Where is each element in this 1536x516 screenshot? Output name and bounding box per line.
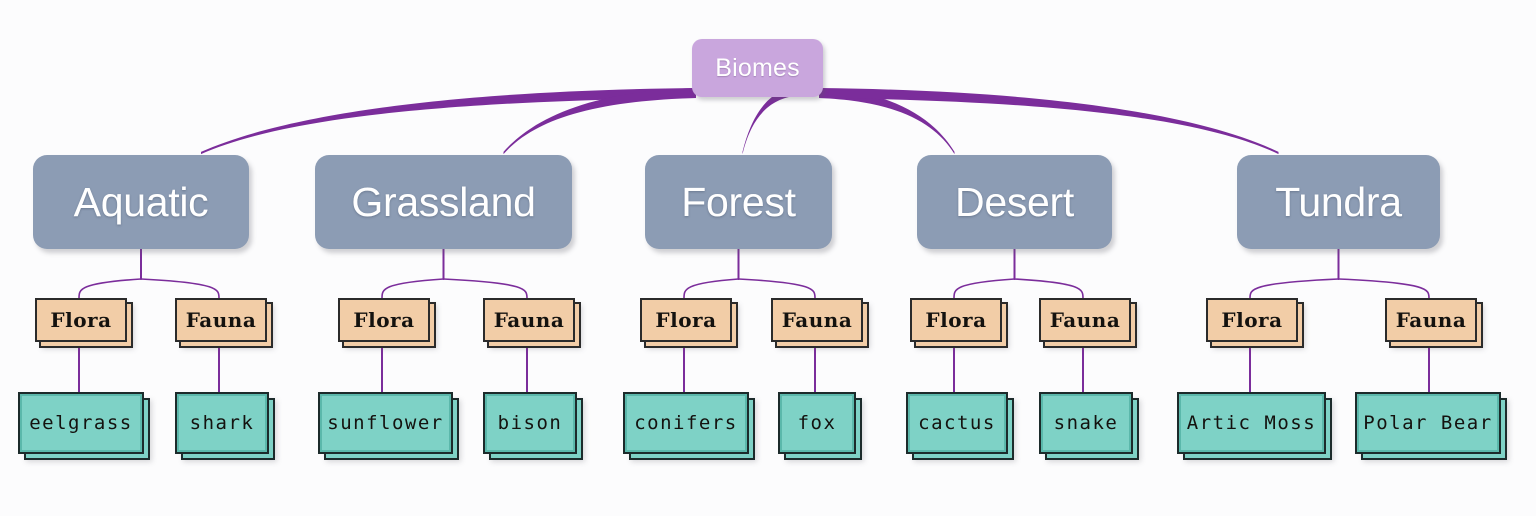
leaf-node-label: bison — [498, 412, 563, 434]
category-node-fauna-grassland[interactable]: Fauna — [483, 298, 575, 342]
leaf-node-bison[interactable]: bison — [483, 392, 577, 454]
edge-root-to-biome — [504, 88, 697, 154]
leaf-node-polar-bear[interactable]: Polar Bear — [1355, 392, 1501, 454]
biome-node-label: Grassland — [351, 179, 535, 226]
category-node-label: Flora — [50, 308, 111, 332]
leaf-node-label: Artic Moss — [1187, 412, 1316, 434]
root-node-label: Biomes — [715, 54, 800, 83]
leaf-node-artic-moss[interactable]: Artic Moss — [1177, 392, 1326, 454]
root-node-biomes[interactable]: Biomes — [692, 39, 823, 97]
leaf-node-sunflower[interactable]: sunflower — [318, 392, 453, 454]
edge-biome-to-category — [1250, 279, 1339, 298]
leaf-node-label: snake — [1054, 412, 1119, 434]
leaf-node-label: fox — [798, 412, 837, 434]
leaf-node-label: cactus — [918, 412, 996, 434]
category-node-label: Flora — [1221, 308, 1282, 332]
category-node-label: Fauna — [1050, 308, 1121, 332]
category-node-fauna-forest[interactable]: Fauna — [771, 298, 863, 342]
category-node-flora-grassland[interactable]: Flora — [338, 298, 430, 342]
biome-node-label: Tundra — [1275, 179, 1402, 226]
category-node-fauna-aquatic[interactable]: Fauna — [175, 298, 267, 342]
edge-biome-to-category — [739, 279, 816, 298]
leaf-node-fox[interactable]: fox — [778, 392, 856, 454]
category-node-label: Flora — [353, 308, 414, 332]
leaf-node-cactus[interactable]: cactus — [906, 392, 1008, 454]
edge-biome-to-category — [79, 279, 141, 298]
biome-node-tundra[interactable]: Tundra — [1237, 155, 1440, 249]
edge-biome-to-category — [382, 279, 444, 298]
category-node-label: Fauna — [494, 308, 565, 332]
edge-biome-to-category — [1015, 279, 1084, 298]
category-node-fauna-tundra[interactable]: Fauna — [1385, 298, 1477, 342]
edge-root-to-biome — [819, 88, 955, 154]
category-node-flora-forest[interactable]: Flora — [640, 298, 732, 342]
leaf-node-snake[interactable]: snake — [1039, 392, 1133, 454]
edge-root-to-biome — [819, 88, 1279, 154]
category-node-label: Fauna — [186, 308, 257, 332]
leaf-node-label: shark — [190, 412, 255, 434]
mindmap-canvas: Biomes Aquatic Flora Fauna eelgrass shar… — [0, 0, 1536, 516]
leaf-node-shark[interactable]: shark — [175, 392, 269, 454]
biome-node-grassland[interactable]: Grassland — [315, 155, 572, 249]
edge-biome-to-category — [1339, 279, 1430, 298]
biome-node-label: Forest — [681, 179, 795, 226]
leaf-node-label: sunflower — [327, 412, 443, 434]
biome-node-forest[interactable]: Forest — [645, 155, 832, 249]
category-node-flora-tundra[interactable]: Flora — [1206, 298, 1298, 342]
edge-root-to-biome — [201, 88, 696, 154]
category-node-flora-aquatic[interactable]: Flora — [35, 298, 127, 342]
biome-node-aquatic[interactable]: Aquatic — [33, 155, 249, 249]
biome-node-desert[interactable]: Desert — [917, 155, 1112, 249]
category-node-label: Flora — [655, 308, 716, 332]
edge-biome-to-category — [684, 279, 739, 298]
category-node-label: Fauna — [782, 308, 853, 332]
leaf-node-label: Polar Bear — [1363, 412, 1492, 434]
leaf-node-label: eelgrass — [29, 412, 133, 434]
edge-biome-to-category — [141, 279, 219, 298]
edge-biome-to-category — [954, 279, 1015, 298]
category-node-fauna-desert[interactable]: Fauna — [1039, 298, 1131, 342]
category-node-flora-desert[interactable]: Flora — [910, 298, 1002, 342]
category-node-label: Flora — [925, 308, 986, 332]
edge-biome-to-category — [444, 279, 528, 298]
leaf-node-eelgrass[interactable]: eelgrass — [18, 392, 144, 454]
biome-node-label: Desert — [955, 179, 1074, 226]
leaf-node-conifers[interactable]: conifers — [623, 392, 749, 454]
leaf-node-label: conifers — [634, 412, 738, 434]
biome-node-label: Aquatic — [74, 179, 209, 226]
category-node-label: Fauna — [1396, 308, 1467, 332]
